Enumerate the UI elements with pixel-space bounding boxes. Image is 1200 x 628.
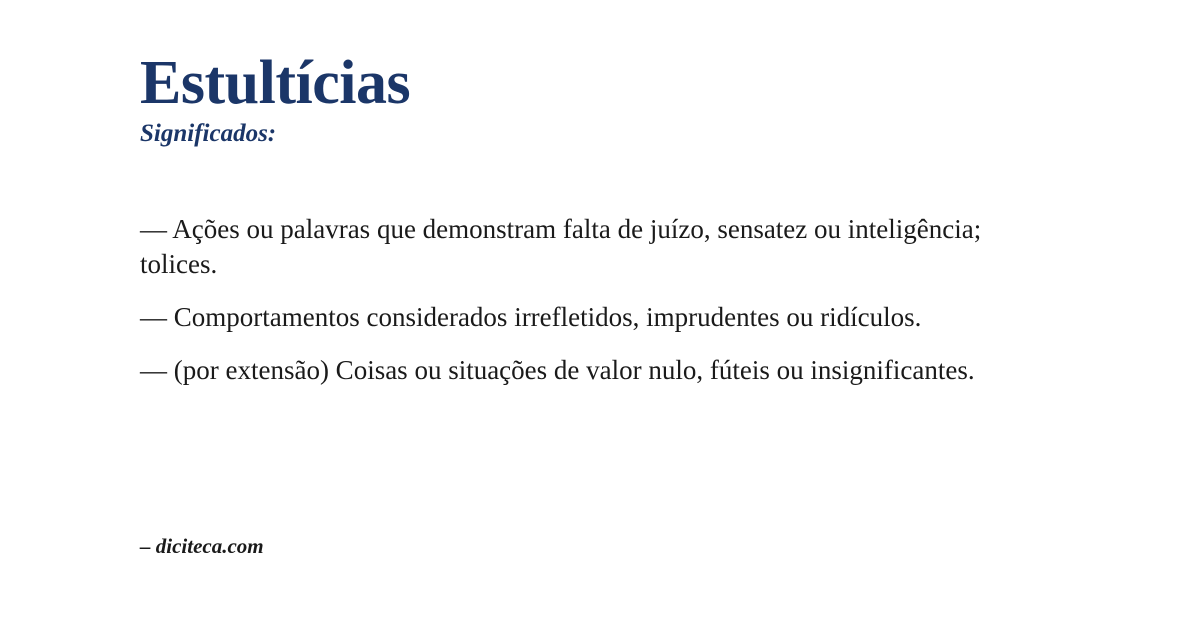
definition-text: Comportamentos considerados irrefletidos… (174, 302, 922, 332)
definition-text: (por extensão) Coisas ou situações de va… (174, 355, 975, 385)
definitions-list: — Ações ou palavras que demonstram falta… (140, 212, 1000, 388)
source-attribution: – diciteca.com (140, 534, 264, 559)
meanings-label: Significados: (140, 119, 1000, 149)
definition-card: Estultícias Significados: — Ações ou pal… (0, 0, 1200, 628)
header-block: Estultícias Significados: (140, 52, 1000, 149)
em-dash-marker: — (140, 355, 174, 385)
list-item: — (por extensão) Coisas ou situações de … (140, 353, 1000, 388)
page-title: Estultícias (140, 52, 1000, 115)
em-dash-marker: — (140, 214, 172, 244)
list-item: — Ações ou palavras que demonstram falta… (140, 212, 1000, 282)
list-item: — Comportamentos considerados irrefletid… (140, 300, 1000, 335)
definition-text: Ações ou palavras que demonstram falta d… (140, 214, 981, 279)
em-dash-marker: — (140, 302, 174, 332)
